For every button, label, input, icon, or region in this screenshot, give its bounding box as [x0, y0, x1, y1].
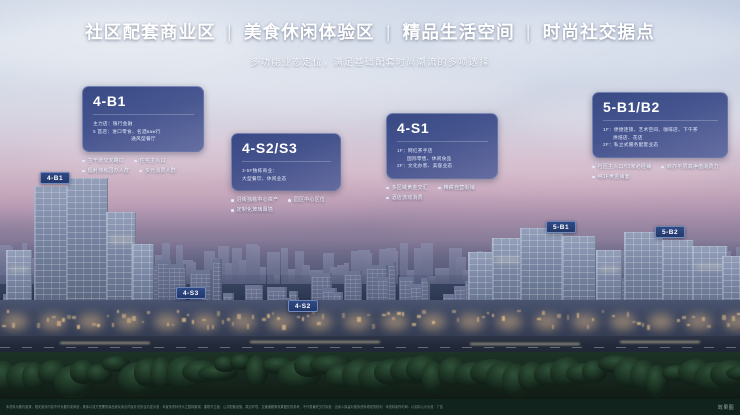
- card-tag-list: 多区域黄金交汇 精耕自营街铺 酒店流动消费: [386, 184, 498, 202]
- shopfront-glow: [572, 314, 598, 330]
- shopfront-glow: [344, 314, 370, 330]
- shopfront-glow: [610, 314, 636, 330]
- shopfront-glow: [192, 314, 218, 330]
- headline-part-2: 美食休闲体验区: [244, 22, 375, 42]
- card-line: 主力店：银行金融: [93, 120, 194, 128]
- headline-part-4: 时尚社交据点: [543, 22, 655, 42]
- light-streak: [470, 343, 580, 345]
- shopfront-window: [187, 314, 189, 316]
- info-card-4-b1[interactable]: 4-B1 主力店：银行金融 5 首店：进口零食、名酒важ行 通风型餐厅 主干道…: [82, 86, 204, 175]
- card-tag: 园区中心区位: [288, 196, 325, 204]
- card-line: 1F：便捷连锁、艺术空间、咖啡店、下午茶: [603, 126, 718, 134]
- shopfront-window: [67, 315, 71, 319]
- building-tag-4-b1[interactable]: 4-B1: [40, 172, 70, 184]
- shopfront-glow: [116, 314, 142, 330]
- card-tag: 纯1F黄金铺面: [592, 173, 630, 181]
- shopfront-glow: [496, 314, 522, 330]
- building-tag-4-s2[interactable]: 4-S2: [288, 300, 318, 312]
- shopfront-window: [117, 310, 119, 313]
- light-streak: [620, 341, 700, 343]
- card-line: 通风型餐厅: [93, 135, 194, 143]
- card-line: 2F：文化办客、美容业态: [397, 162, 488, 170]
- shopfront-window: [262, 318, 266, 321]
- shopfront-window: [142, 321, 144, 323]
- card-line: 大型餐饮、休闲业态: [242, 175, 331, 183]
- card-tag-list: 社区主入口/归家必经铺 商办平层高净值消费力 纯1F黄金铺面: [592, 163, 728, 181]
- card-divider: [93, 114, 194, 115]
- card-tag-list: 沿街独栋中心资产 园区中心区位 定制化玻璃幕墙: [231, 196, 341, 214]
- card-tag: 商办平层高净值消费力: [661, 163, 719, 171]
- foreground-greenbelt: [0, 352, 740, 400]
- shopfront-window: [112, 323, 114, 327]
- shopfront-glow: [534, 314, 560, 330]
- shopfront-window: [367, 314, 370, 316]
- shopfront-window: [642, 323, 644, 327]
- footer-disclaimer-bar: 本资料为要约邀请，相关宣传内容不作为要约或承诺，具体以双方签署的商品房买卖合同及…: [0, 399, 740, 415]
- shopfront-window: [177, 310, 179, 313]
- card-tag: 多区域黄金交汇: [386, 184, 428, 192]
- card-tag: 辐射独栋园办人群: [82, 167, 129, 175]
- page-subtitle: 多功能业态定位，满足基础配套时尚潮流的多项选择: [0, 55, 740, 68]
- headline-part-3: 精品生活空间: [403, 22, 515, 42]
- shopfront-glow: [268, 314, 294, 330]
- info-card-4-s2-s3[interactable]: 4-S2/S3 3-5F独栋商业： 大型餐饮、休闲业态 沿街独栋中心资产 园区中…: [231, 133, 341, 214]
- shopfront-glow: [78, 314, 104, 330]
- shopfront-window: [372, 324, 375, 329]
- headline-part-1: 社区配套商业区: [85, 22, 216, 42]
- disclaimer-text: 本资料为要约邀请，相关宣传内容不作为要约或承诺，具体以双方签署的商品房买卖合同及…: [6, 404, 443, 411]
- shopfront-glow: [648, 314, 674, 330]
- shopfront-window: [302, 317, 304, 321]
- shopfront-window: [7, 310, 9, 313]
- shopfront-window: [637, 322, 641, 325]
- shopfront-glow: [458, 314, 484, 330]
- building-tag-5-b2[interactable]: 5-B2: [655, 226, 685, 238]
- shopfront-window: [492, 314, 494, 317]
- shopfront-window: [182, 318, 186, 322]
- shopfront-window: [222, 320, 224, 324]
- shopfront-window: [517, 310, 521, 312]
- card-code: 4-S1: [397, 121, 488, 136]
- shopfront-glow: [2, 314, 28, 330]
- card-description: 3-5F独栋商业： 大型餐饮、休闲业态: [242, 167, 331, 182]
- card-line: 2F：私立式服务配套业态: [603, 141, 718, 149]
- card-divider: [603, 120, 718, 121]
- headline-separator: |: [386, 22, 392, 42]
- card-tag: 酒店流动消费: [386, 194, 423, 202]
- card-code: 5-B1/B2: [603, 100, 718, 115]
- shopfront-window: [107, 315, 109, 317]
- shopfront-window: [422, 310, 426, 314]
- card-tag: 精耕自营街铺: [438, 184, 475, 192]
- shopfront-glow: [382, 314, 408, 330]
- shopfront-window: [217, 311, 220, 316]
- light-streak: [250, 341, 380, 343]
- card-code: 4-B1: [93, 94, 194, 109]
- card-line: 1F：网红茶手店: [397, 147, 488, 155]
- card-panel: 5-B1/B2 1F：便捷连锁、艺术空间、咖啡店、下午茶 烘焙店、花店 2F：私…: [592, 92, 728, 158]
- headline-separator: |: [227, 22, 233, 42]
- card-divider: [397, 141, 488, 142]
- card-tag: 多元消费人群: [139, 167, 176, 175]
- lane-markings: [0, 347, 740, 348]
- poster-header: 社区配套商业区 | 美食休闲体验区 | 精品生活空间 | 时尚社交据点 多功能业…: [0, 0, 740, 68]
- shopfront-glow: [40, 314, 66, 330]
- shopfront-window: [567, 315, 569, 320]
- card-tag: 沿街独栋中心资产: [231, 196, 278, 204]
- card-tag: 定制化玻璃幕墙: [231, 206, 273, 214]
- poster-canvas: 社区配套商业区 | 美食休闲体验区 | 精品生活空间 | 时尚社交据点 多功能业…: [0, 0, 740, 415]
- shopfront-window: [72, 316, 76, 319]
- card-panel: 4-S2/S3 3-5F独栋商业： 大型餐饮、休闲业态: [231, 133, 341, 191]
- card-tag: 住宅主入口: [134, 157, 166, 165]
- card-tag: 社区主入口/归家必经铺: [592, 163, 651, 171]
- card-code: 4-S2/S3: [242, 141, 331, 156]
- card-line: 国际零售、休闲食品: [397, 155, 488, 163]
- card-description: 1F：便捷连锁、艺术空间、咖啡店、下午茶 烘焙店、花店 2F：私立式服务配套业态: [603, 126, 718, 149]
- retail-podium-strip: [0, 300, 740, 338]
- card-panel: 4-B1 主力店：银行金融 5 首店：进口零食、名酒важ行 通风型餐厅: [82, 86, 204, 152]
- building-tag-5-b1[interactable]: 5-B1: [546, 221, 576, 233]
- light-streak: [60, 342, 150, 344]
- shopfront-window: [147, 311, 150, 314]
- shopfront-glow: [420, 314, 446, 330]
- shopfront-window: [602, 310, 604, 313]
- card-tag: 主干道交叉路口: [82, 157, 124, 165]
- shopfront-glow: [724, 314, 740, 330]
- card-line: 5 首店：进口零食、名酒важ行: [93, 128, 194, 136]
- card-panel: 4-S1 1F：网红茶手店 国际零售、休闲食品 2F：文化办客、美容业态: [386, 113, 498, 179]
- shopfront-window: [487, 312, 489, 314]
- shopfront-window: [682, 316, 686, 319]
- building-tag-4-s3[interactable]: 4-S3: [176, 287, 206, 299]
- shopfront-glow: [154, 314, 180, 330]
- card-divider: [242, 161, 331, 162]
- shopfront-window: [412, 323, 416, 326]
- page-title: 社区配套商业区 | 美食休闲体验区 | 精品生活空间 | 时尚社交据点: [0, 19, 740, 44]
- watermark-label: 效果图: [718, 404, 734, 411]
- card-line: 3-5F独栋商业：: [242, 167, 331, 175]
- shopfront-glow: [306, 314, 332, 330]
- shopfront-glow: [686, 314, 712, 330]
- shopfront-window: [452, 310, 456, 313]
- shopfront-window: [677, 319, 680, 322]
- card-tag-list: 主干道交叉路口 住宅主入口 辐射独栋园办人群 多元消费人群: [82, 157, 204, 175]
- headline-separator: |: [526, 22, 532, 42]
- card-description: 主力店：银行金融 5 首店：进口零食、名酒важ行 通风型餐厅: [93, 120, 194, 143]
- shopfront-window: [297, 316, 300, 318]
- info-card-4-s1[interactable]: 4-S1 1F：网红茶手店 国际零售、休闲食品 2F：文化办客、美容业态 多区域…: [386, 113, 498, 202]
- shopfront-glow: [230, 314, 256, 330]
- card-description: 1F：网红茶手店 国际零售、休闲食品 2F：文化办客、美容业态: [397, 147, 488, 170]
- info-card-5-b1-b2[interactable]: 5-B1/B2 1F：便捷连锁、艺术空间、咖啡店、下午茶 烘焙店、花店 2F：私…: [592, 92, 728, 181]
- card-line: 烘焙店、花店: [603, 134, 718, 142]
